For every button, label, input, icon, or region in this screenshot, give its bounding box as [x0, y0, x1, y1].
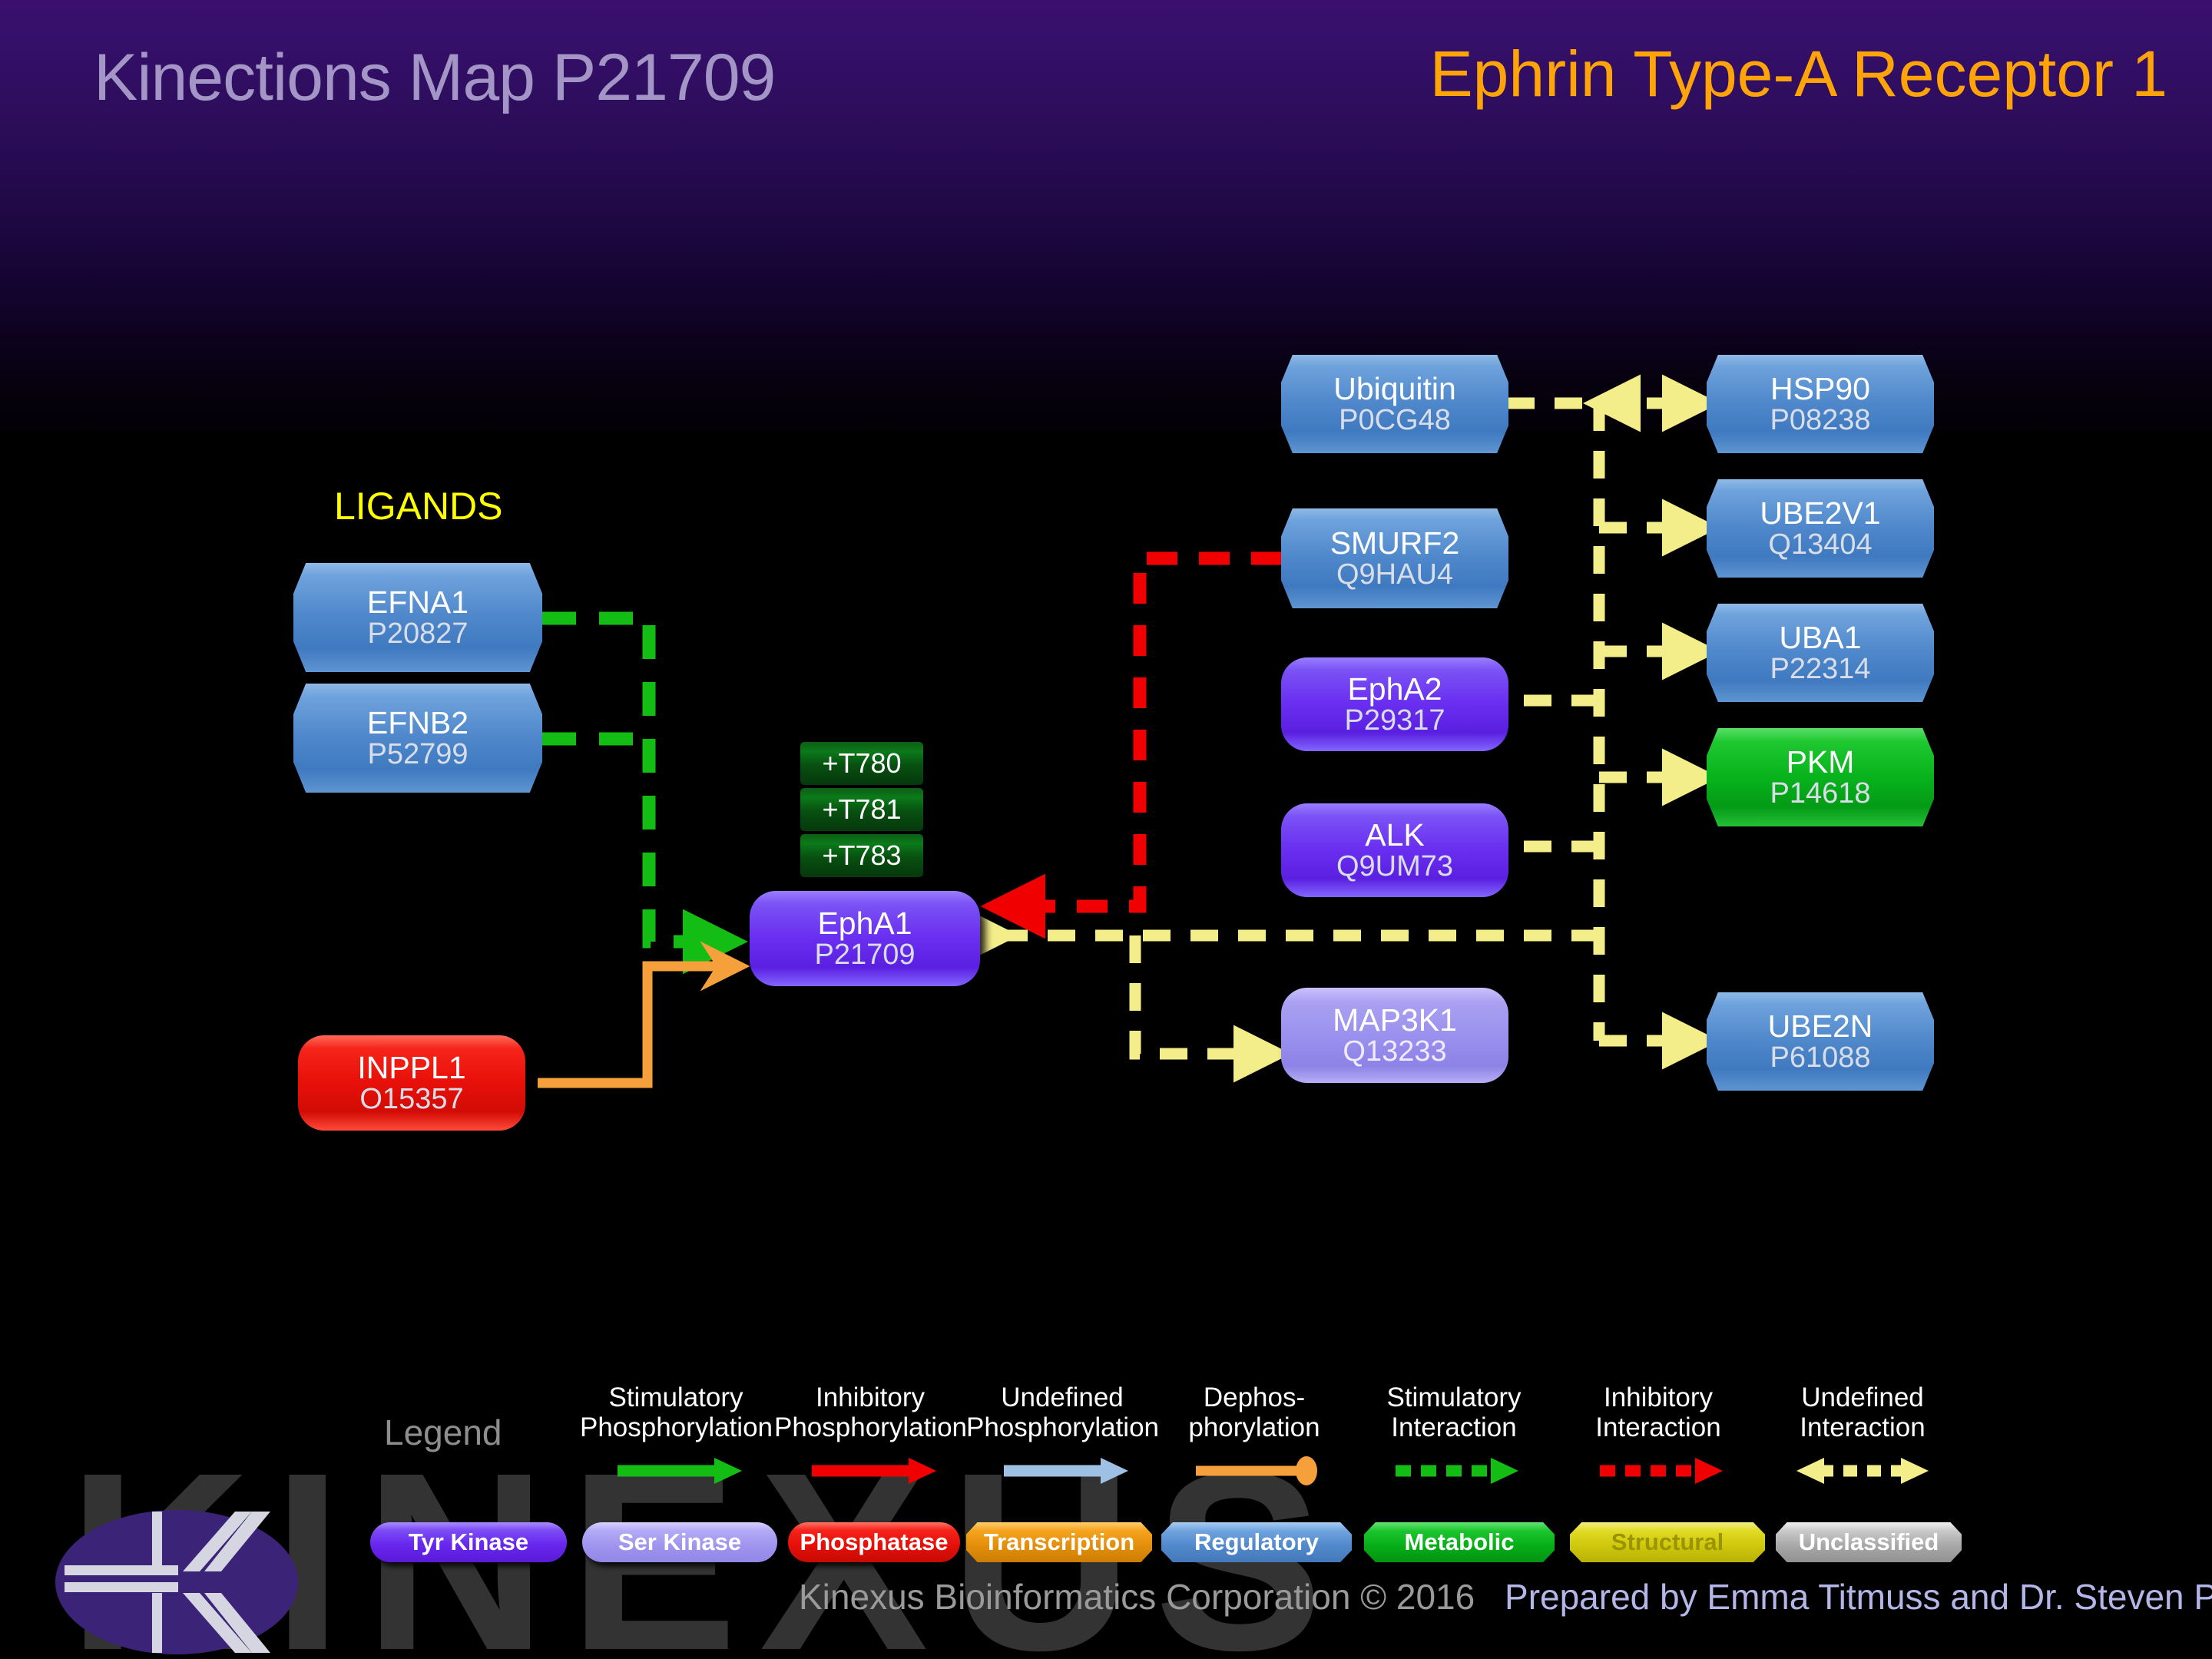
category-pill-metabolic[interactable]: Metabolic [1364, 1522, 1555, 1562]
legend-label-line1: Undefined [1801, 1382, 1924, 1412]
node-pkm[interactable]: PKM P14618 [1707, 728, 1934, 826]
node-accession: P61088 [1770, 1043, 1870, 1074]
node-efna1[interactable]: EFNA1 P20827 [293, 563, 542, 672]
footer: Kinexus Bioinformatics Corporation © 201… [799, 1576, 2212, 1618]
category-pill-tyr-kinase[interactable]: Tyr Kinase [370, 1522, 567, 1562]
node-alk[interactable]: ALK Q9UM73 [1281, 803, 1508, 897]
legend-item-inhibitory-interaction: Inhibitory Interaction [1562, 1382, 1754, 1488]
category-pill-regulatory[interactable]: Regulatory [1161, 1522, 1352, 1562]
legend-item-stimulatory-interaction: Stimulatory Interaction [1358, 1382, 1550, 1488]
page-title: Kinections Map P21709 [94, 40, 775, 116]
node-ubiquitin[interactable]: Ubiquitin P0CG48 [1281, 355, 1508, 453]
node-accession: P22314 [1770, 654, 1870, 685]
legend-label-line1: Stimulatory [608, 1382, 743, 1412]
legend-arrow-inhibitory-phosphorylation-icon [774, 1453, 966, 1488]
protein-subtitle: Ephrin Type-A Receptor 1 [1430, 37, 2167, 111]
category-pill-structural[interactable]: Structural [1570, 1522, 1765, 1562]
node-name: Ubiquitin [1333, 373, 1456, 406]
node-name: HSP90 [1770, 373, 1870, 406]
legend-label-line2: Phosphorylation [580, 1412, 773, 1442]
legend-label-line2: Interaction [1391, 1412, 1516, 1442]
node-accession: Q9HAU4 [1336, 560, 1453, 591]
node-accession: P20827 [367, 619, 468, 650]
node-uba1[interactable]: UBA1 P22314 [1707, 604, 1934, 702]
category-pill-phosphatase[interactable]: Phosphatase [788, 1522, 960, 1562]
footer-copyright: Kinexus Bioinformatics Corporation © 201… [799, 1577, 1475, 1617]
node-accession: P52799 [367, 740, 468, 770]
ligands-section-label: LIGANDS [334, 484, 503, 528]
phospho-site-t781[interactable]: +T781 [800, 788, 923, 831]
node-hsp90[interactable]: HSP90 P08238 [1707, 355, 1934, 453]
node-accession: P08238 [1770, 406, 1870, 436]
node-smurf2[interactable]: SMURF2 Q9HAU4 [1281, 508, 1508, 608]
legend-label-line2: phorylation [1188, 1412, 1320, 1442]
node-name: MAP3K1 [1333, 1004, 1457, 1037]
node-accession: P21709 [814, 940, 915, 971]
legend-arrow-stimulatory-interaction-icon [1358, 1453, 1550, 1488]
legend-label-line1: Undefined [1001, 1382, 1124, 1412]
node-name: EphA1 [817, 907, 912, 940]
phospho-site-t780[interactable]: +T780 [800, 742, 923, 785]
legend-arrow-dephosphorylation-icon [1158, 1453, 1350, 1488]
legend-label-line1: Dephos- [1204, 1382, 1305, 1412]
node-accession: O15357 [359, 1084, 463, 1115]
node-accession: Q13233 [1343, 1037, 1446, 1068]
node-name: UBE2N [1768, 1010, 1873, 1043]
legend-label-line1: Inhibitory [816, 1382, 925, 1412]
node-inppl1[interactable]: INPPL1 O15357 [298, 1035, 525, 1131]
node-map3k1[interactable]: MAP3K1 Q13233 [1281, 988, 1508, 1083]
node-accession: P14618 [1770, 779, 1870, 810]
legend-arrow-undefined-interaction-icon [1767, 1453, 1959, 1488]
node-name: EFNA1 [367, 586, 469, 619]
kinexus-logo [54, 1507, 300, 1657]
legend-item-undefined-phosphorylation: Undefined Phosphorylation [966, 1382, 1158, 1488]
legend-label: Legend [384, 1412, 502, 1453]
footer-prepared-by: Prepared by Emma Titmuss and Dr. Steven … [1505, 1577, 2212, 1617]
node-name: PKM [1786, 746, 1855, 779]
legend-label-line2: Interaction [1800, 1412, 1925, 1442]
node-accession: P0CG48 [1339, 406, 1451, 436]
legend-label-line2: Interaction [1595, 1412, 1720, 1442]
node-accession: Q13404 [1768, 530, 1872, 561]
node-name: EFNB2 [367, 707, 469, 740]
legend-label-line2: Phosphorylation [966, 1412, 1159, 1442]
category-pill-transcription[interactable]: Transcription [966, 1522, 1152, 1562]
node-accession: Q9UM73 [1336, 852, 1453, 882]
legend-label-line2: Phosphorylation [774, 1412, 967, 1442]
node-efnb2[interactable]: EFNB2 P52799 [293, 684, 542, 793]
legend-arrow-stimulatory-phosphorylation-icon [580, 1453, 772, 1488]
node-epha2[interactable]: EphA2 P29317 [1281, 657, 1508, 751]
node-epha1[interactable]: EphA1 P21709 [750, 891, 980, 986]
category-pill-unclassified[interactable]: Unclassified [1776, 1522, 1962, 1562]
phospho-site-t783[interactable]: +T783 [800, 834, 923, 877]
legend-item-stimulatory-phosphorylation: Stimulatory Phosphorylation [580, 1382, 772, 1488]
node-ube2v1[interactable]: UBE2V1 Q13404 [1707, 479, 1934, 578]
node-name: UBE2V1 [1760, 497, 1880, 530]
node-name: SMURF2 [1330, 527, 1460, 560]
node-ube2n[interactable]: UBE2N P61088 [1707, 992, 1934, 1091]
legend-item-dephosphorylation: Dephos- phorylation [1158, 1382, 1350, 1488]
node-accession: P29317 [1344, 706, 1445, 737]
node-name: ALK [1365, 819, 1425, 852]
category-pill-ser-kinase[interactable]: Ser Kinase [582, 1522, 777, 1562]
legend-item-inhibitory-phosphorylation: Inhibitory Phosphorylation [774, 1382, 966, 1488]
legend-item-undefined-interaction: Undefined Interaction [1767, 1382, 1959, 1488]
legend-label-line1: Inhibitory [1604, 1382, 1713, 1412]
legend-label-line1: Stimulatory [1386, 1382, 1521, 1412]
node-name: EphA2 [1347, 673, 1442, 706]
node-name: INPPL1 [357, 1051, 465, 1084]
legend-arrow-undefined-phosphorylation-icon [966, 1453, 1158, 1488]
node-name: UBA1 [1779, 621, 1861, 654]
legend-arrow-inhibitory-interaction-icon [1562, 1453, 1754, 1488]
